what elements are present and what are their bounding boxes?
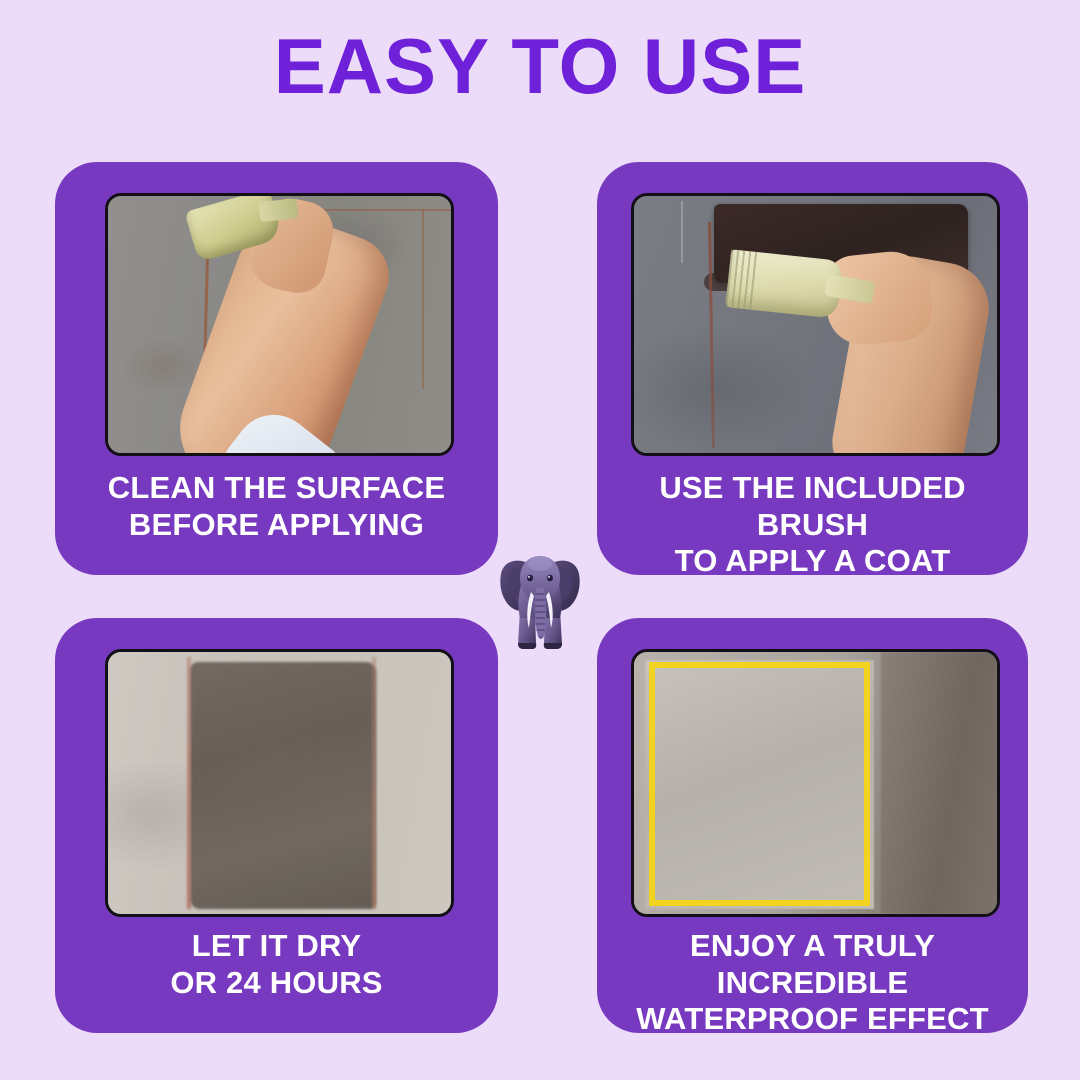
photo-clean-surface bbox=[108, 196, 451, 453]
step-photo-frame-1 bbox=[105, 193, 454, 456]
elephant-icon bbox=[498, 548, 582, 652]
poster-canvas: EASY TO USE CLEAN THE SURFACE BEFORE APP… bbox=[0, 0, 1080, 1080]
shirt-cuff bbox=[208, 399, 340, 456]
photo-drying bbox=[108, 652, 451, 914]
wall-seam bbox=[681, 201, 683, 263]
step-caption-1: CLEAN THE SURFACE BEFORE APPLYING bbox=[55, 470, 498, 543]
step-card-waterproof-effect[interactable]: ENJOY A TRULY INCREDIBLE WATERPROOF EFFE… bbox=[597, 618, 1028, 1033]
step-caption-2-line2: TO APPLY A COAT bbox=[607, 543, 1018, 580]
step-caption-1-line1: CLEAN THE SURFACE bbox=[108, 470, 446, 505]
step-caption-3-line1: LET IT DRY bbox=[192, 928, 362, 963]
drying-patch bbox=[190, 662, 375, 908]
wall-seam-right bbox=[422, 209, 424, 389]
step-card-let-it-dry[interactable]: LET IT DRY OR 24 HOURS bbox=[55, 618, 498, 1033]
photo-apply-coat bbox=[634, 196, 997, 453]
brush-icon bbox=[726, 249, 843, 318]
step-card-clean-surface[interactable]: CLEAN THE SURFACE BEFORE APPLYING bbox=[55, 162, 498, 575]
photo-waterproof-result bbox=[634, 652, 997, 914]
patch-edge-left bbox=[187, 657, 191, 909]
untreated-wall-area bbox=[881, 652, 997, 914]
step-photo-frame-4 bbox=[631, 649, 1000, 917]
patch-edge-right bbox=[372, 657, 376, 909]
step-caption-2-line1: USE THE INCLUDED BRUSH bbox=[659, 470, 965, 542]
step-caption-4-line1: ENJOY A TRULY INCREDIBLE bbox=[690, 928, 935, 1000]
step-caption-1-line2: BEFORE APPLYING bbox=[65, 507, 488, 544]
step-caption-4: ENJOY A TRULY INCREDIBLE WATERPROOF EFFE… bbox=[597, 928, 1028, 1038]
page-title: EASY TO USE bbox=[0, 26, 1080, 108]
step-caption-3: LET IT DRY OR 24 HOURS bbox=[55, 928, 498, 1001]
brand-logo bbox=[498, 548, 582, 652]
highlight-rectangle bbox=[649, 662, 870, 906]
step-caption-3-line2: OR 24 HOURS bbox=[65, 965, 488, 1002]
step-card-apply-coat[interactable]: USE THE INCLUDED BRUSH TO APPLY A COAT bbox=[597, 162, 1028, 575]
step-caption-4-line2: WATERPROOF EFFECT bbox=[607, 1001, 1018, 1038]
step-photo-frame-3 bbox=[105, 649, 454, 917]
step-photo-frame-2 bbox=[631, 193, 1000, 456]
step-caption-2: USE THE INCLUDED BRUSH TO APPLY A COAT bbox=[597, 470, 1028, 580]
